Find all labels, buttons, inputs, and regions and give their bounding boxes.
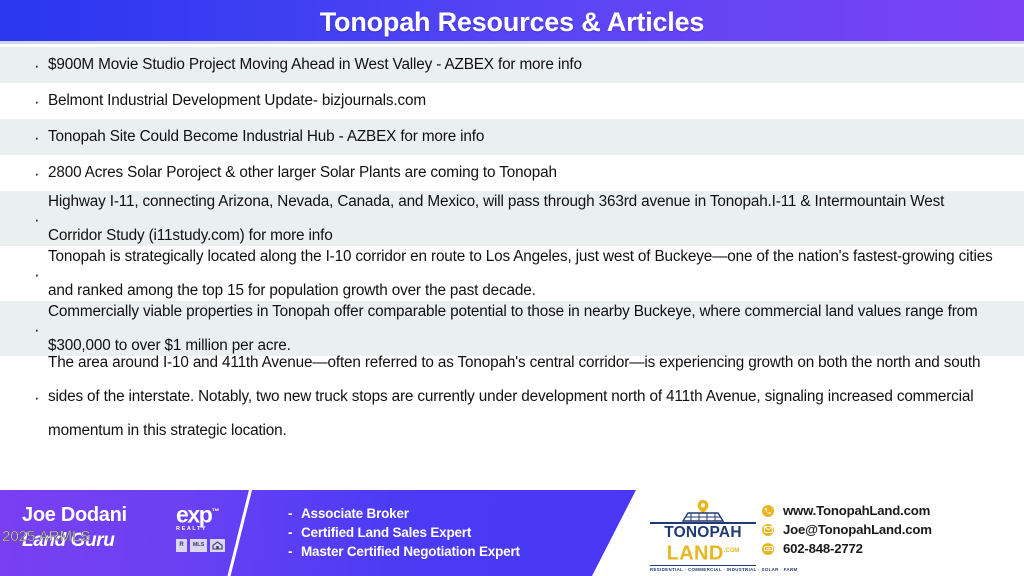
phone-icon: [762, 543, 774, 555]
list-item-text: $900M Movie Studio Project Moving Ahead …: [48, 48, 1000, 82]
globe-icon: [762, 505, 774, 517]
tonopah-land-logo: TONOPAH LAND.COM RESIDENTIAL · COMMERCIA…: [650, 498, 756, 572]
exp-realty-logo: exp™ REALTY R MLS: [176, 502, 256, 552]
bullet-icon: ·: [34, 265, 48, 283]
exp-sublabel: REALTY: [176, 526, 256, 532]
contact-text: 602-848-2772: [783, 541, 863, 556]
bullet-icon: ·: [34, 93, 48, 110]
logo-bottom-word: LAND.COM: [650, 541, 756, 564]
bullet-icon: ·: [34, 129, 48, 146]
trademark-symbol: ™: [211, 507, 218, 516]
list-item-text: Tonopah Site Could Become Industrial Hub…: [48, 120, 1000, 154]
list-item: ·The area around I-10 and 411th Avenue—o…: [0, 356, 1024, 438]
bullet-icon: ·: [34, 320, 48, 338]
page-footer: Joe Dodani Land Guru 2025 ARMLS exp™ REA…: [0, 490, 1024, 576]
page-title: Tonopah Resources & Articles: [320, 7, 705, 38]
mls-badge-icon: MLS: [190, 539, 207, 552]
page-header: Tonopah Resources & Articles: [0, 0, 1024, 44]
exp-badge-row: R MLS: [176, 539, 256, 552]
credential-item: -Master Certified Negotiation Expert: [288, 542, 520, 561]
copyright-watermark: 2025 ARMLS: [2, 528, 90, 545]
realtor-badge-icon: R: [176, 539, 187, 552]
exp-wordmark: exp™: [176, 502, 256, 525]
map-pin-icon: [650, 498, 756, 522]
list-item: ·Belmont Industrial Development Update- …: [0, 83, 1024, 119]
credential-label: Master Certified Negotiation Expert: [301, 544, 520, 559]
credentials-list: -Associate Broker-Certified Land Sales E…: [288, 504, 520, 561]
bullet-icon: ·: [34, 165, 48, 182]
list-item-text: Belmont Industrial Development Update- b…: [48, 84, 1000, 118]
credential-dash: -: [288, 523, 301, 542]
credential-dash: -: [288, 504, 301, 523]
equal-housing-badge-icon: [210, 539, 225, 552]
credential-label: Associate Broker: [301, 506, 409, 521]
contact-text: www.TonopahLand.com: [783, 503, 930, 518]
list-item: ·Tonopah is strategically located along …: [0, 246, 1024, 301]
credential-item: -Certified Land Sales Expert: [288, 523, 520, 542]
exp-word-text: exp: [176, 502, 211, 528]
header-underline: [0, 41, 1024, 44]
logo-tagline: RESIDENTIAL · COMMERCIAL · INDUSTRIAL · …: [650, 565, 756, 573]
credential-label: Certified Land Sales Expert: [301, 525, 471, 540]
envelope-icon: [762, 524, 774, 536]
list-item-text: The area around I-10 and 411th Avenue—of…: [48, 346, 1000, 448]
bullet-icon: ·: [34, 210, 48, 228]
credential-dash: -: [288, 542, 301, 561]
contact-item[interactable]: 602-848-2772: [762, 540, 932, 557]
contact-item[interactable]: www.TonopahLand.com: [762, 502, 932, 519]
contact-item[interactable]: Joe@TonopahLand.com: [762, 521, 932, 538]
logo-top-word: TONOPAH: [650, 522, 756, 541]
resources-list: ·$900M Movie Studio Project Moving Ahead…: [0, 47, 1024, 490]
bullet-icon: ·: [34, 388, 48, 406]
list-item: ·$900M Movie Studio Project Moving Ahead…: [0, 47, 1024, 83]
logo-bottom-text: LAND: [667, 543, 724, 565]
list-item: ·Tonopah Site Could Become Industrial Hu…: [0, 119, 1024, 155]
credential-item: -Associate Broker: [288, 504, 520, 523]
logo-domain-suffix: .COM: [724, 548, 740, 554]
bullet-icon: ·: [34, 57, 48, 74]
list-item: ·Highway I-11, connecting Arizona, Nevad…: [0, 191, 1024, 246]
contact-text: Joe@TonopahLand.com: [783, 522, 932, 537]
contact-list: www.TonopahLand.comJoe@TonopahLand.com60…: [762, 502, 932, 559]
